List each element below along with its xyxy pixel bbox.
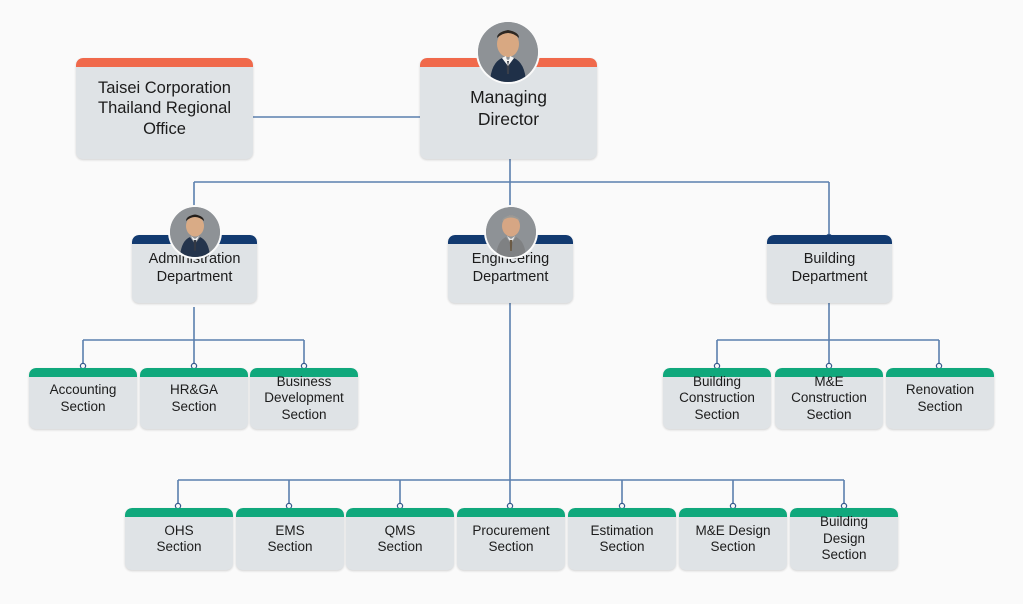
node-procurement-section[interactable]: Procurement Section — [457, 508, 565, 570]
node-accent-bar — [767, 235, 892, 244]
node-label: Managing Director — [464, 87, 553, 130]
node-accounting-section[interactable]: Accounting Section — [29, 368, 137, 429]
node-label: Renovation Section — [900, 382, 980, 415]
node-label: Procurement Section — [466, 523, 555, 556]
node-building-department[interactable]: Building Department — [767, 235, 892, 303]
node-accent-bar — [568, 508, 676, 517]
node-building-design-section[interactable]: Building Design Section — [790, 508, 898, 570]
node-building-construction-section[interactable]: Building Construction Section — [663, 368, 771, 429]
node-ohs-section[interactable]: OHS Section — [125, 508, 233, 570]
node-label: Building Design Section — [814, 514, 874, 563]
node-accent-bar — [679, 508, 787, 517]
avatar-administration-department — [170, 207, 220, 257]
avatar-managing-director — [478, 22, 538, 82]
node-accent-bar — [886, 368, 994, 377]
node-accent-bar — [457, 508, 565, 517]
node-hrga-section[interactable]: HR&GA Section — [140, 368, 248, 429]
person-icon — [486, 207, 536, 257]
node-accent-bar — [76, 58, 253, 67]
avatar-engineering-department — [486, 207, 536, 257]
node-label: OHS Section — [150, 523, 207, 556]
node-accent-bar — [125, 508, 233, 517]
node-estimation-section[interactable]: Estimation Section — [568, 508, 676, 570]
node-label: M&E Design Section — [689, 523, 776, 556]
node-label: Taisei Corporation Thailand Regional Off… — [92, 78, 237, 138]
node-label: Building Department — [786, 251, 874, 286]
node-label: HR&GA Section — [164, 382, 224, 415]
node-me-design-section[interactable]: M&E Design Section — [679, 508, 787, 570]
node-accent-bar — [236, 508, 344, 517]
node-renovation-section[interactable]: Renovation Section — [886, 368, 994, 429]
node-accent-bar — [29, 368, 137, 377]
node-label: EMS Section — [261, 523, 318, 556]
node-label: Building Construction Section — [673, 374, 761, 423]
node-accent-bar — [346, 508, 454, 517]
node-label: Business Development Section — [258, 374, 350, 423]
org-chart: Taisei Corporation Thailand Regional Off… — [0, 0, 1023, 604]
node-qms-section[interactable]: QMS Section — [346, 508, 454, 570]
node-regional-office[interactable]: Taisei Corporation Thailand Regional Off… — [76, 58, 253, 159]
node-accent-bar — [140, 368, 248, 377]
person-icon — [478, 22, 538, 82]
node-me-construction-section[interactable]: M&E Construction Section — [775, 368, 883, 429]
node-label: M&E Construction Section — [785, 374, 873, 423]
node-ems-section[interactable]: EMS Section — [236, 508, 344, 570]
node-business-development-section[interactable]: Business Development Section — [250, 368, 358, 429]
person-icon — [170, 207, 220, 257]
node-label: QMS Section — [371, 523, 428, 556]
node-label: Estimation Section — [584, 523, 659, 556]
node-label: Accounting Section — [44, 382, 123, 415]
